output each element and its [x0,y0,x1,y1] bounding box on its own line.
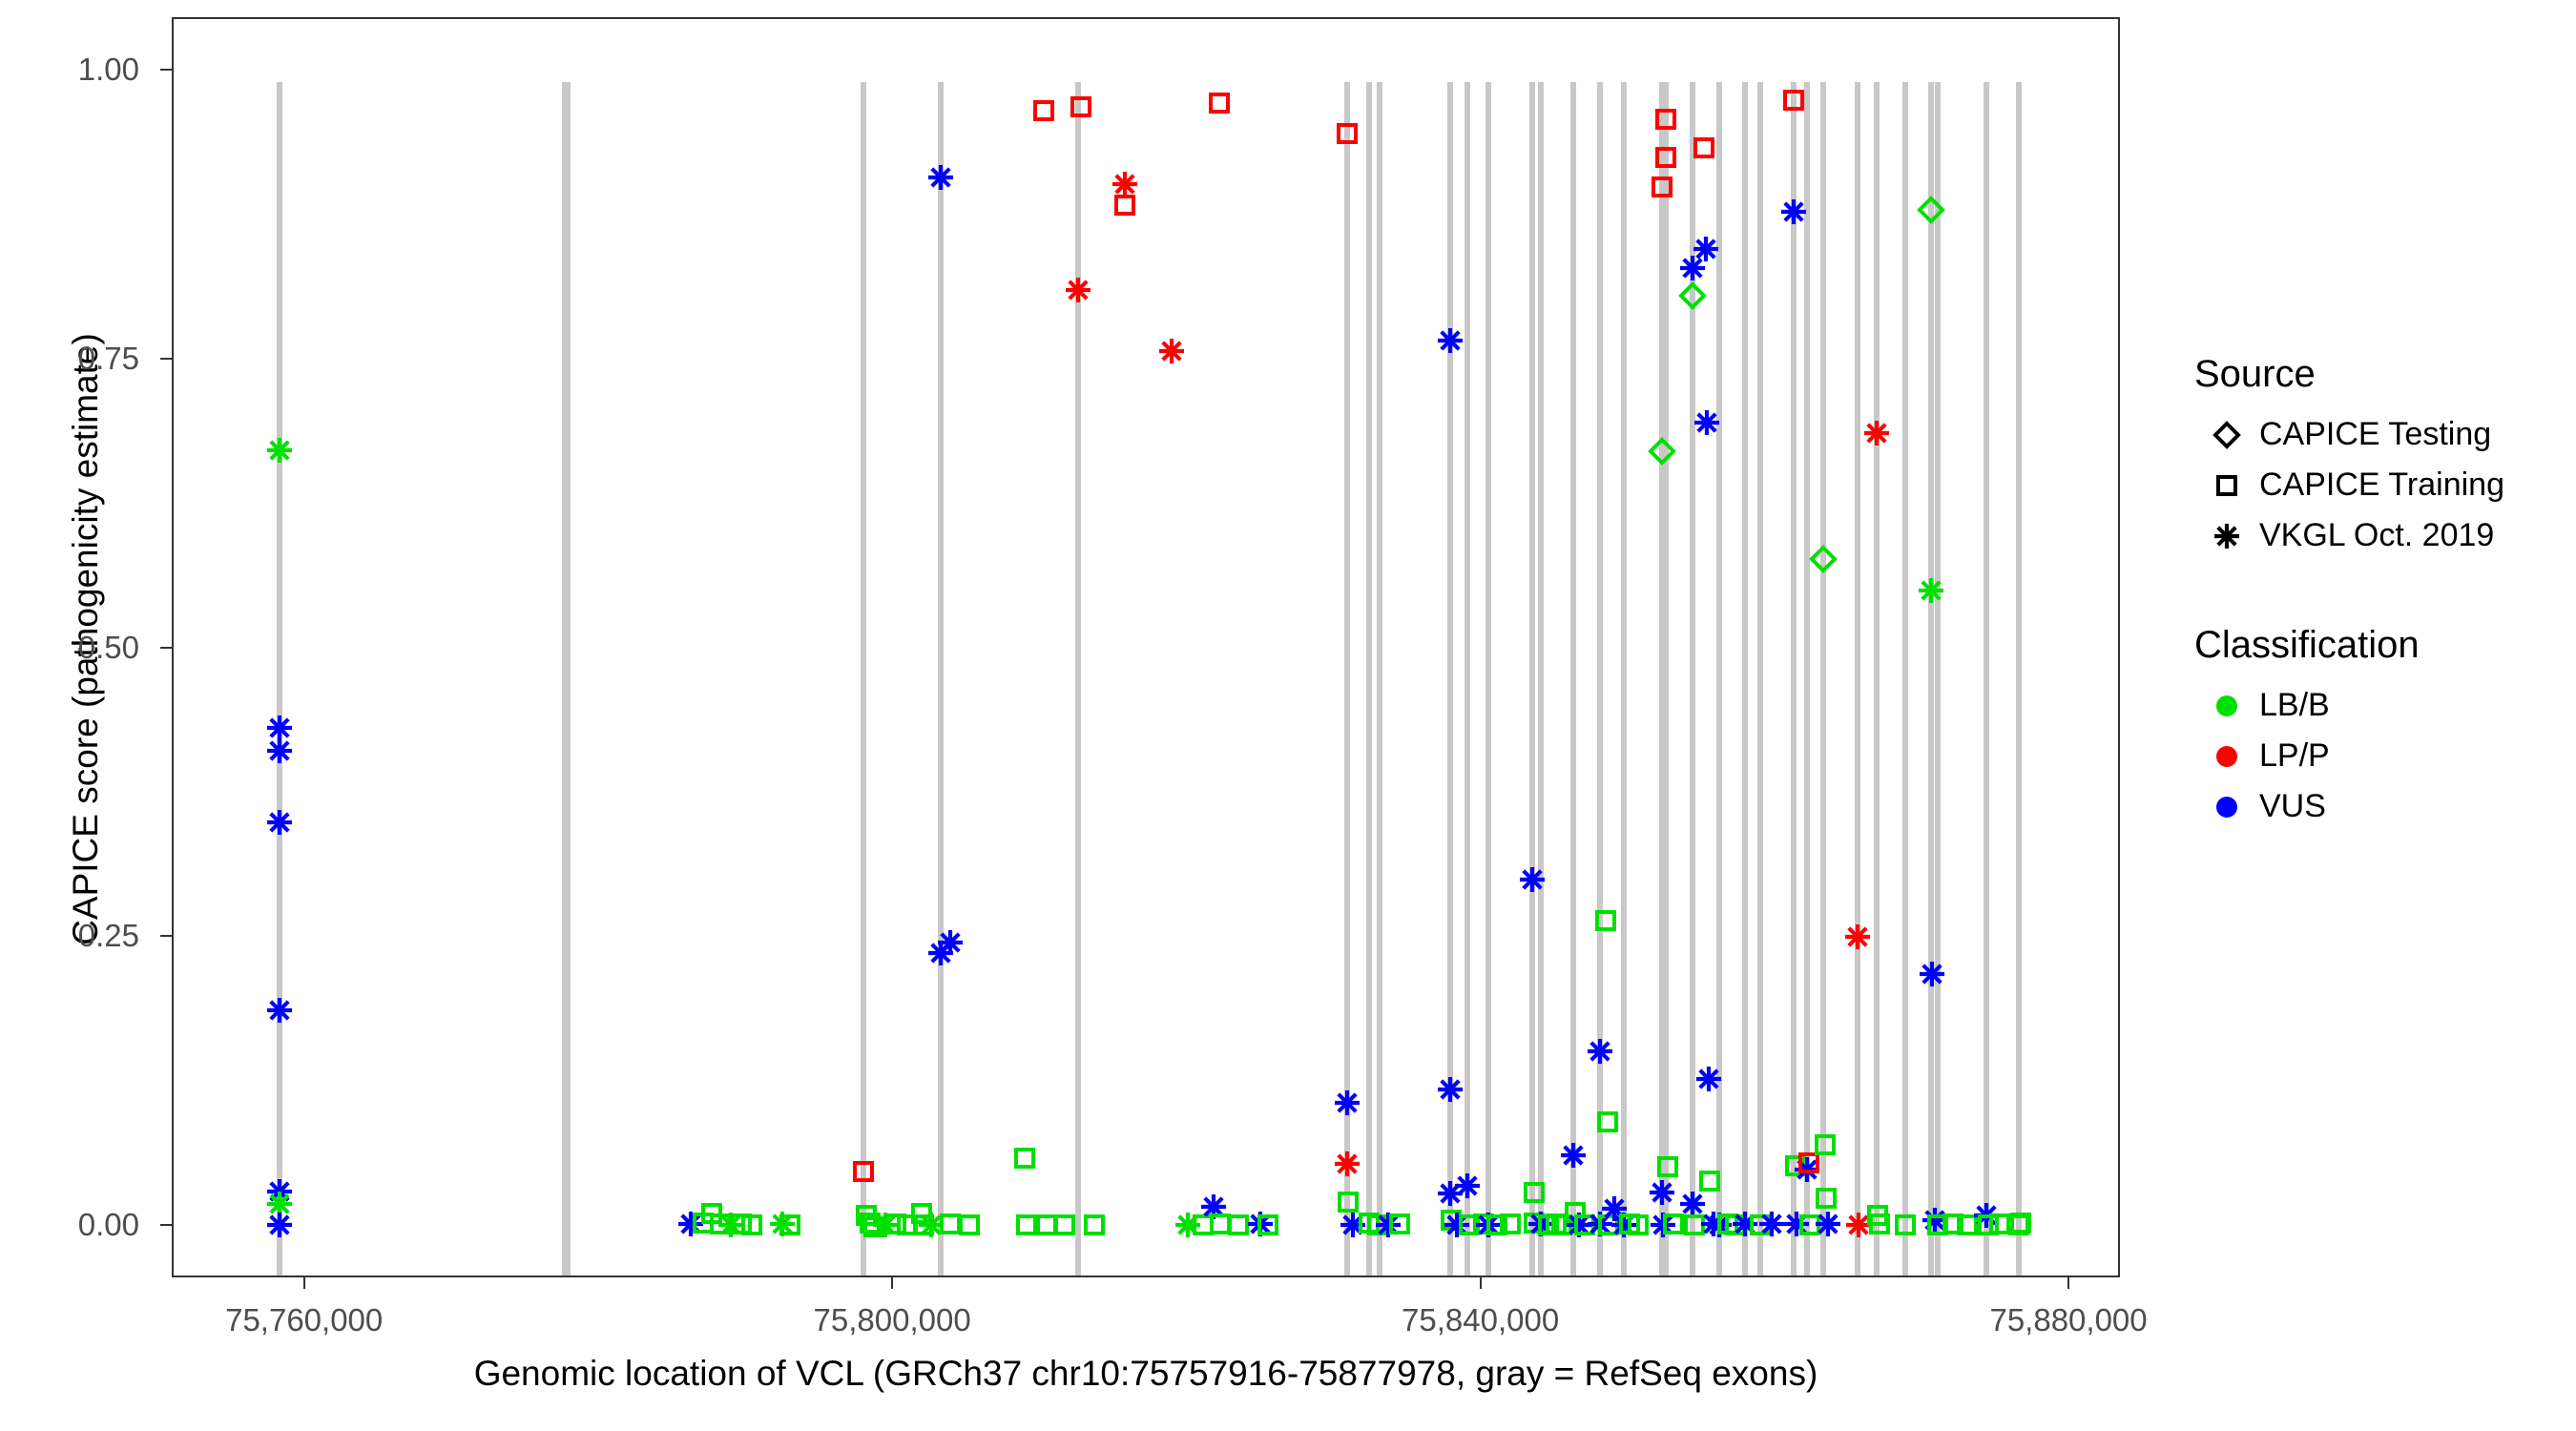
data-point [1843,923,1872,951]
legend-item-label: LB/B [2259,687,2330,724]
color-dot-icon [2194,742,2259,771]
data-point [1779,86,1808,114]
data-point [265,736,294,765]
data-point [1891,1211,1920,1239]
data-point [1010,1144,1039,1172]
data-point [1157,337,1186,365]
data-point [955,1211,984,1239]
data-point [1690,134,1718,162]
data-point [1862,419,1891,447]
y-tick-mark [160,647,172,649]
y-tick-mark [160,358,172,360]
chart-figure: CAPICE score (pathogenicity estimate) 0.… [0,0,2576,1431]
diamond-icon [2194,421,2259,449]
legend-item-label: CAPICE Training [2259,467,2504,504]
data-point [1593,1108,1622,1136]
data-point [1648,173,1676,201]
data-point [1254,1211,1282,1239]
scatter-points [174,19,2118,1275]
y-tick-label: 0.75 [78,341,139,377]
x-tick-mark [891,1277,893,1289]
data-point [849,1157,878,1186]
y-tick-label: 1.00 [78,52,139,88]
data-point [1779,197,1808,226]
x-tick-label: 75,840,000 [1402,1302,1559,1338]
legend-title-classification: Classification [2194,624,2557,667]
data-point [1648,1178,1676,1207]
data-point [1067,93,1095,121]
color-dot-icon [2194,692,2259,720]
data-point [926,163,955,192]
data-point [1518,865,1547,894]
data-point [1586,1037,1614,1066]
x-tick-label: 75,760,000 [225,1302,383,1338]
data-point [1436,326,1465,355]
legend-item-source[interactable]: CAPICE Testing [2194,409,2557,460]
legend-group-source: CAPICE TestingCAPICE TrainingVKGL Oct. 2… [2194,409,2557,561]
x-tick-mark [1480,1277,1482,1289]
x-tick-mark [2067,1277,2069,1289]
legend-item-classification[interactable]: LB/B [2194,680,2557,731]
data-point [737,1211,766,1239]
x-tick-mark [303,1277,305,1289]
data-point [936,928,965,957]
legend-group-classification: LB/B LP/P VUS [2194,680,2557,832]
data-point [1694,1065,1723,1093]
data-point [1918,960,1946,988]
data-point [1814,1210,1842,1238]
data-point [1029,96,1058,125]
data-point [265,1211,294,1239]
x-axis-title: Genomic location of VCL (GRCh37 chr10:75… [172,1350,2120,1398]
legend-item-classification[interactable]: LP/P [2194,731,2557,781]
y-tick-label: 0.25 [78,918,139,954]
legend-item-source[interactable]: CAPICE Training [2194,460,2557,510]
data-point [1080,1211,1109,1239]
data-point [1520,1178,1548,1207]
data-point [1559,1141,1588,1170]
y-tick-label: 0.50 [78,630,139,666]
legend-title-source: Source [2194,353,2557,396]
y-tick-mark [160,69,172,71]
data-point [265,996,294,1025]
data-point [1692,235,1720,263]
data-point [1333,119,1361,148]
x-tick-label: 75,800,000 [814,1302,971,1338]
data-point [1591,906,1620,935]
data-point [776,1211,804,1239]
data-point [1111,191,1139,219]
y-tick-label: 0.00 [78,1207,139,1243]
y-tick-mark [160,935,172,937]
data-point [1385,1210,1414,1238]
legend-item-source[interactable]: VKGL Oct. 2019 [2194,510,2557,561]
legend-item-label: VKGL Oct. 2019 [2259,517,2494,554]
data-point [1811,1130,1839,1159]
square-icon [2194,471,2259,500]
color-dot-icon [2194,793,2259,821]
data-point [1695,1167,1724,1195]
legend-item-label: VUS [2259,788,2326,825]
data-point [1333,1089,1361,1117]
data-point [1333,1150,1361,1178]
x-tick-label: 75,880,000 [1989,1302,2147,1338]
data-point [1064,276,1092,304]
data-point [1050,1211,1079,1239]
plot-panel [172,17,2120,1277]
legend-item-classification[interactable]: VUS [2194,781,2557,832]
data-point [1648,437,1676,466]
legend: Source CAPICE TestingCAPICE TrainingVKGL… [2194,353,2557,832]
data-point [1812,1184,1840,1213]
legend-item-label: LP/P [2259,737,2330,775]
data-point [1678,281,1707,310]
data-point [1205,89,1234,117]
y-tick-mark [160,1224,172,1226]
data-point [1693,408,1721,437]
data-point [2006,1209,2035,1237]
data-point [1917,196,1945,224]
data-point [1653,1152,1682,1181]
asterisk-icon [2194,522,2259,550]
data-point [265,808,294,837]
legend-item-label: CAPICE Testing [2259,416,2491,453]
data-point [1652,143,1680,172]
data-point [265,436,294,465]
data-point [1809,545,1838,573]
data-point [1436,1075,1465,1104]
data-point [1652,105,1680,134]
data-point [1865,1210,1894,1238]
data-point [1917,576,1945,605]
data-point [1453,1172,1482,1200]
